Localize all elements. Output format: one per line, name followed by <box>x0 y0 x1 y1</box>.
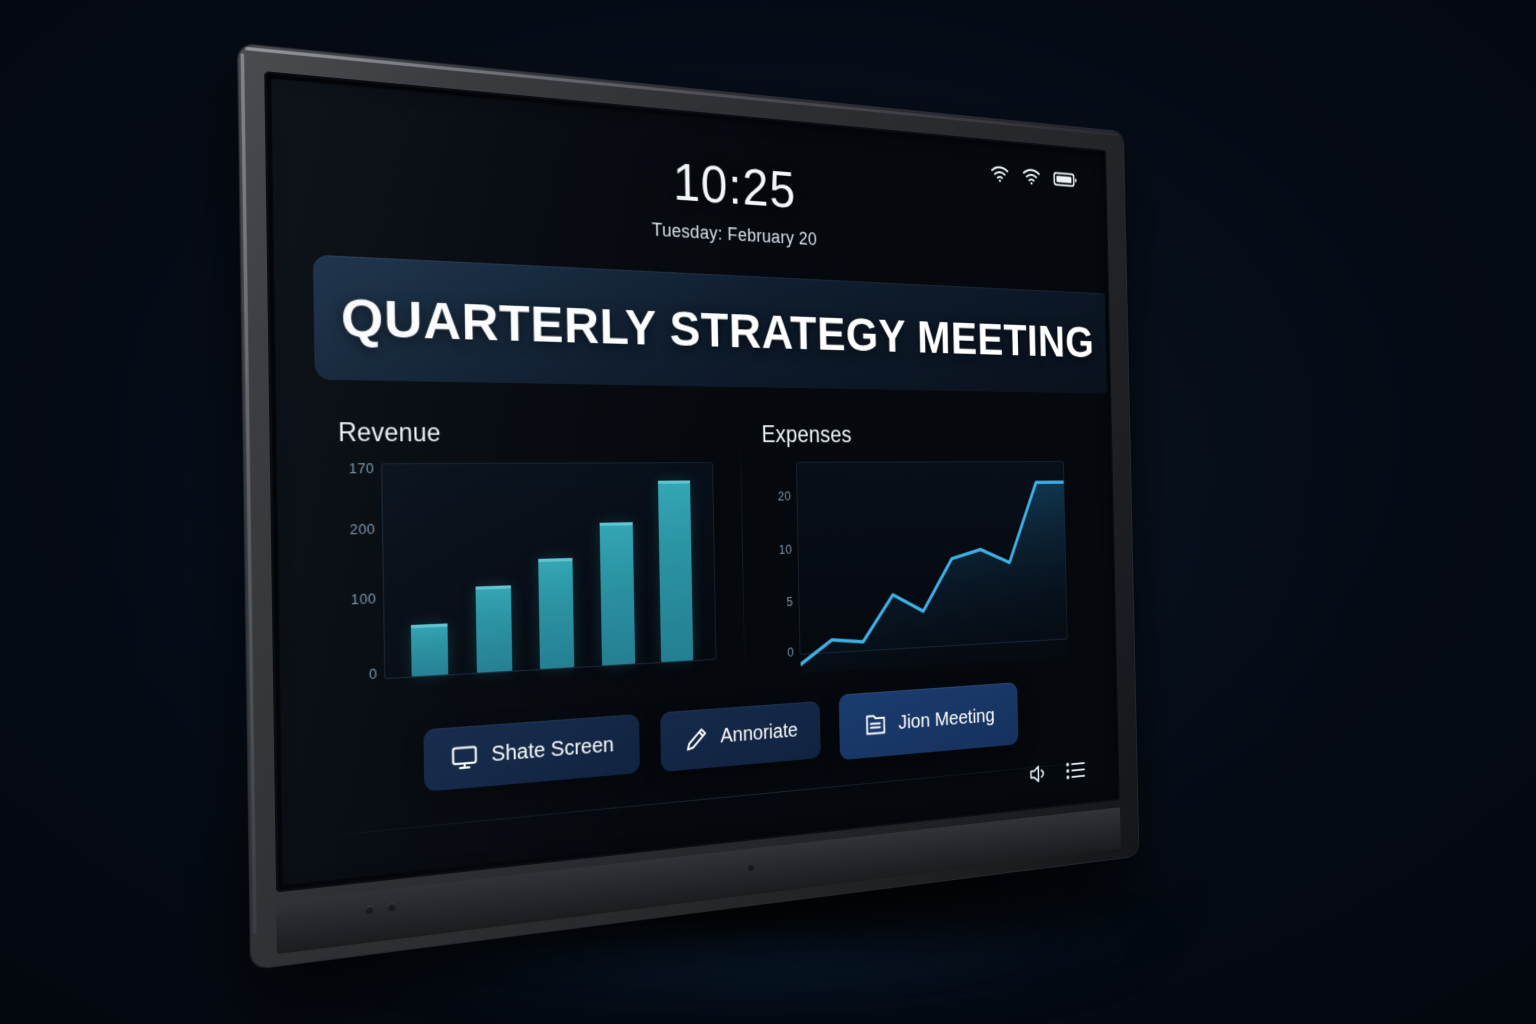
y-tick-label: 0 <box>369 665 378 682</box>
expenses-chart-title: Expenses <box>761 421 1063 448</box>
meeting-title-banner: QUARTERLY STRATEGY MEETING <box>313 255 1113 394</box>
volume-icon[interactable] <box>1029 763 1049 790</box>
screen-inner-frame: 10:25 Tuesday: February 20 QUARTERLY STR… <box>264 71 1120 893</box>
pencil-icon <box>685 726 708 752</box>
perspective-scene: 10:25 Tuesday: February 20 QUARTERLY STR… <box>0 0 1536 1024</box>
bar <box>658 480 693 662</box>
revenue-bars <box>393 463 706 677</box>
battery-icon[interactable] <box>1053 170 1077 188</box>
y-tick-label: 100 <box>351 590 377 608</box>
y-tick-label: 200 <box>350 520 376 537</box>
document-icon <box>865 712 887 738</box>
charts-row: Revenue 170 200 100 0 <box>315 418 1087 698</box>
wifi-icon[interactable] <box>990 165 1009 183</box>
expenses-chart: Expenses 20 10 5 0 <box>736 421 1087 671</box>
revenue-chart: Revenue 170 200 100 0 <box>315 418 740 698</box>
bar <box>599 522 635 665</box>
revenue-y-axis: 170 200 100 0 <box>336 463 384 682</box>
expenses-plot-area <box>796 461 1068 655</box>
y-tick-label: 10 <box>779 541 793 556</box>
expenses-y-axis: 20 10 5 0 <box>760 462 799 657</box>
scene-background: 10:25 Tuesday: February 20 QUARTERLY STR… <box>0 0 1536 1024</box>
wifi-icon[interactable] <box>1022 168 1041 186</box>
y-tick-label: 0 <box>787 644 794 659</box>
annotate-label: Annoriate <box>720 719 798 748</box>
indicator-dots <box>366 903 396 914</box>
action-buttons: Shate Screen Annoriate <box>320 677 1089 806</box>
expenses-plot: 20 10 5 0 <box>760 461 1067 657</box>
clock-time: 10:25 <box>311 127 1079 236</box>
y-tick-label: 20 <box>778 488 792 503</box>
expenses-area-series <box>797 462 1067 673</box>
join-meeting-button[interactable]: Jion Meeting <box>839 682 1019 760</box>
bar <box>476 585 513 673</box>
y-tick-label: 5 <box>786 594 793 609</box>
clock-block: 10:25 Tuesday: February 20 <box>311 127 1079 266</box>
join-meeting-label: Jion Meeting <box>898 704 995 734</box>
y-tick-label: 170 <box>349 459 375 476</box>
bottom-bar <box>1029 759 1086 789</box>
monitor-icon <box>451 745 477 771</box>
list-icon[interactable] <box>1066 760 1086 785</box>
annotate-button[interactable]: Annoriate <box>660 700 821 771</box>
interactive-display-panel: 10:25 Tuesday: February 20 QUARTERLY STR… <box>238 44 1138 969</box>
bar <box>539 558 575 669</box>
bezel-left-highlight <box>241 53 257 934</box>
revenue-plot: 170 200 100 0 <box>336 462 716 682</box>
